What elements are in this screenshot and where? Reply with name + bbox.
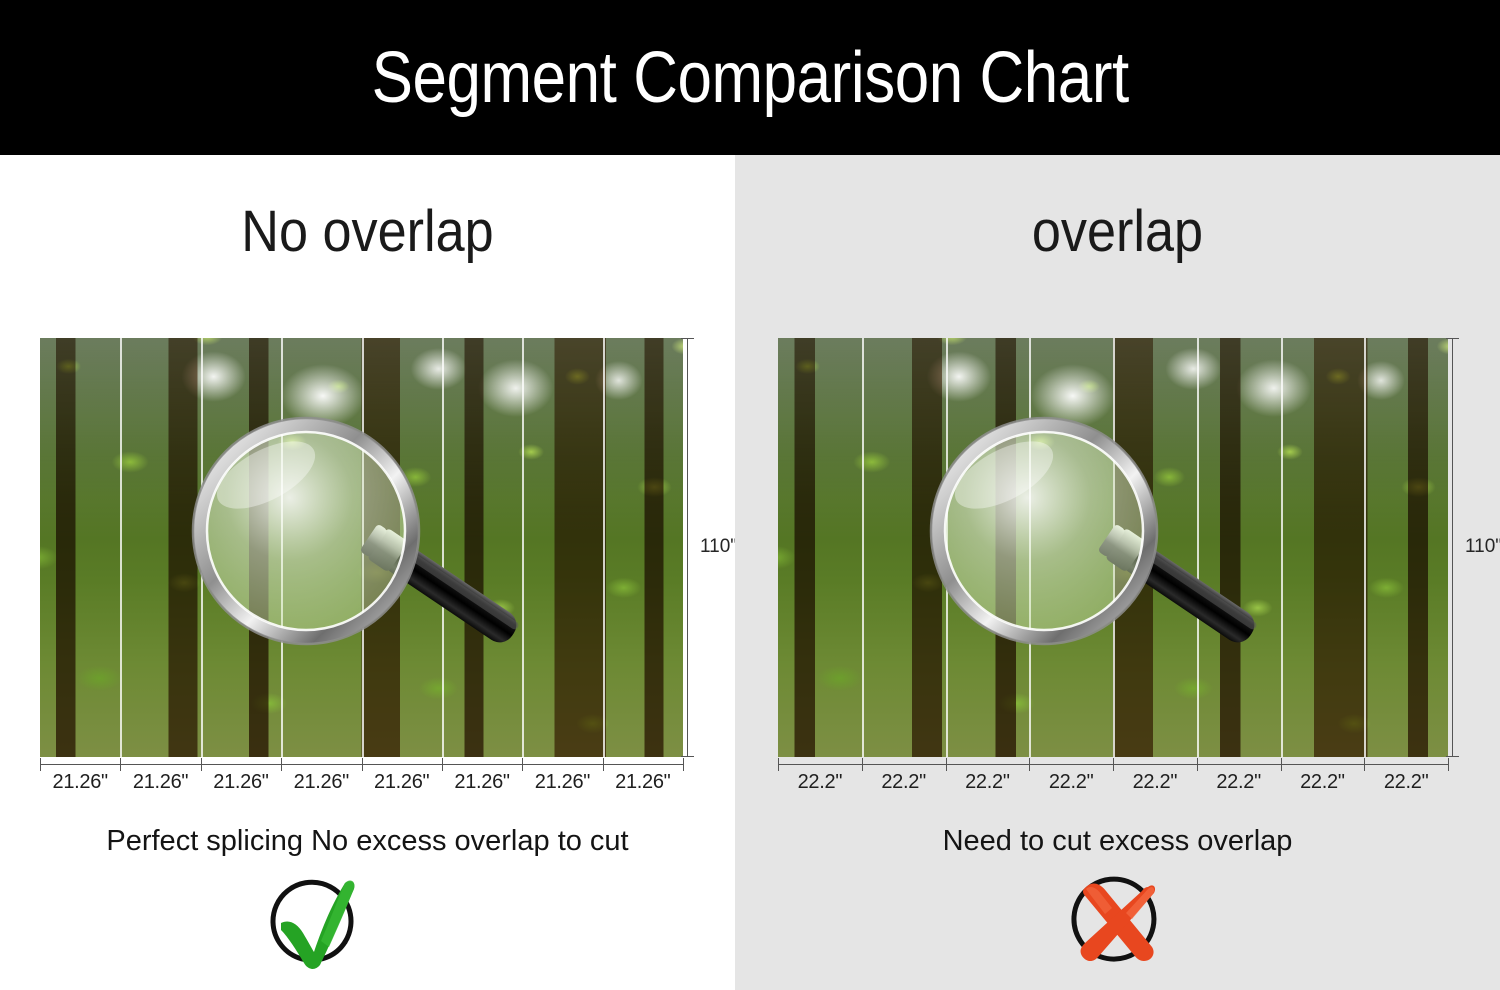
dim-tick	[946, 758, 947, 771]
segment-width-label: 22.2"	[1364, 771, 1448, 794]
seam-line	[281, 338, 283, 757]
dim-tick	[281, 758, 282, 771]
panel-heading-overlap: overlap	[773, 203, 1462, 261]
segment-seams-left	[40, 338, 683, 757]
dim-tick	[778, 758, 779, 771]
caption-no-overlap: Perfect splicing No excess overlap to cu…	[0, 827, 735, 856]
seam-line	[1281, 338, 1283, 757]
page-title: Segment Comparison Chart	[371, 42, 1128, 114]
height-dimension-line-right	[1452, 338, 1453, 757]
segment-seams-right	[778, 338, 1448, 757]
segment-width-label: 21.26"	[120, 771, 200, 794]
width-dimension-left: 21.26" 21.26" 21.26" 21.26" 21.26" 21.26…	[40, 764, 683, 765]
seam-line	[1029, 338, 1031, 757]
seam-line	[603, 338, 605, 757]
check-mark-icon	[257, 867, 367, 977]
dim-tick	[603, 758, 604, 771]
mural-figure-overlap: 110" 22.2" 22.2" 22.2" 22.2" 22.2"	[778, 338, 1448, 757]
segment-width-label: 21.26"	[40, 771, 120, 794]
segment-width-label: 22.2"	[862, 771, 946, 794]
width-dimension-right: 22.2" 22.2" 22.2" 22.2" 22.2" 22.2" 22.2…	[778, 764, 1448, 765]
segment-width-labels-right: 22.2" 22.2" 22.2" 22.2" 22.2" 22.2" 22.2…	[778, 771, 1448, 794]
dim-tick	[1197, 758, 1198, 771]
mural-figure-no-overlap: 110" 21.26" 21.26" 21.26" 21.26" 21.	[40, 338, 683, 757]
seam-line	[862, 338, 864, 757]
cross-mark-icon	[1060, 867, 1170, 977]
seam-line	[1197, 338, 1199, 757]
segment-width-label: 21.26"	[442, 771, 522, 794]
page-root: Segment Comparison Chart No overlap	[0, 0, 1500, 990]
panel-overlap: overlap	[735, 155, 1500, 990]
caption-overlap: Need to cut excess overlap	[735, 827, 1500, 856]
seam-line	[201, 338, 203, 757]
segment-width-labels-left: 21.26" 21.26" 21.26" 21.26" 21.26" 21.26…	[40, 771, 683, 794]
segment-width-label: 21.26"	[362, 771, 442, 794]
seam-line	[1364, 338, 1366, 757]
dim-tick	[1281, 758, 1282, 771]
dim-tick	[201, 758, 202, 771]
dim-tick	[1029, 758, 1030, 771]
dim-tick	[120, 758, 121, 771]
dim-tick	[683, 758, 684, 771]
dim-tick	[522, 758, 523, 771]
segment-width-label: 21.26"	[603, 771, 683, 794]
seam-line	[442, 338, 444, 757]
dim-tick	[1364, 758, 1365, 771]
segment-width-label: 22.2"	[1197, 771, 1281, 794]
height-dimension-label-left: 110"	[700, 536, 737, 558]
title-bar: Segment Comparison Chart	[0, 0, 1500, 155]
height-dimension-line-left	[687, 338, 688, 757]
segment-width-label: 22.2"	[1281, 771, 1365, 794]
dim-tick	[1448, 758, 1449, 771]
seam-line	[946, 338, 948, 757]
dim-tick	[442, 758, 443, 771]
segment-width-label: 21.26"	[522, 771, 602, 794]
segment-width-label: 21.26"	[281, 771, 361, 794]
segment-width-label: 21.26"	[201, 771, 281, 794]
segment-width-label: 22.2"	[778, 771, 862, 794]
seam-line	[1113, 338, 1115, 757]
seam-line	[362, 338, 364, 757]
segment-width-label: 22.2"	[1113, 771, 1197, 794]
seam-line	[120, 338, 122, 757]
dim-tick	[862, 758, 863, 771]
dim-tick	[1113, 758, 1114, 771]
dim-tick	[40, 758, 41, 771]
panel-heading-no-overlap: No overlap	[37, 203, 699, 261]
segment-width-label: 22.2"	[1029, 771, 1113, 794]
height-dimension-label-right: 110"	[1465, 536, 1500, 558]
seam-line	[522, 338, 524, 757]
dim-tick	[362, 758, 363, 771]
segment-width-label: 22.2"	[946, 771, 1030, 794]
panel-no-overlap: No overlap	[0, 155, 735, 990]
